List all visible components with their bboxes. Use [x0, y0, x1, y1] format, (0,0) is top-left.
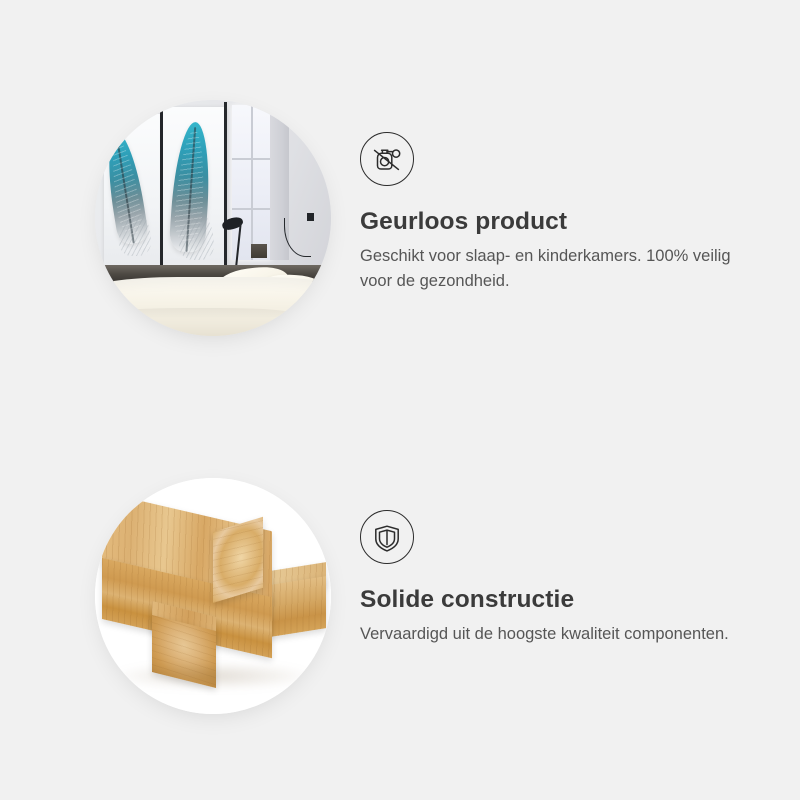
canvas-panel-center	[163, 107, 224, 270]
no-fragrance-perfume-bottle-icon	[360, 132, 414, 186]
shield-icon	[360, 510, 414, 564]
bedroom-scene-illustration	[95, 100, 331, 336]
feature-block-solide-constructie: Solide constructie Vervaardigd uit de ho…	[0, 420, 800, 780]
feather-wisp	[119, 211, 151, 256]
wooden-beams-illustration	[95, 478, 331, 714]
feature-description: Vervaardigd uit de hoogste kwaliteit com…	[360, 622, 752, 647]
wall-mount-plate	[307, 213, 314, 221]
blanket-fold	[114, 308, 289, 320]
canvas-panel-left	[104, 114, 161, 265]
feature-block-geurloos-product: Geurloos product Geschikt voor slaap- en…	[0, 42, 800, 402]
circular-image-mask	[95, 100, 331, 336]
feature-image-geurloos-product	[95, 100, 331, 336]
contact-shadow	[109, 662, 317, 690]
nightstand	[251, 244, 268, 258]
feature-description: Geschikt voor slaap- en kinderkamers. 10…	[360, 244, 752, 294]
feature-image-solide-constructie	[95, 478, 331, 714]
circular-image-mask	[95, 478, 331, 714]
feature-title: Solide constructie	[360, 586, 574, 614]
feather-wisp	[179, 211, 213, 260]
product-feature-page: Geurloos product Geschikt voor slaap- en…	[0, 0, 800, 800]
feature-title: Geurloos product	[360, 208, 567, 236]
bed-duvet	[95, 277, 331, 336]
